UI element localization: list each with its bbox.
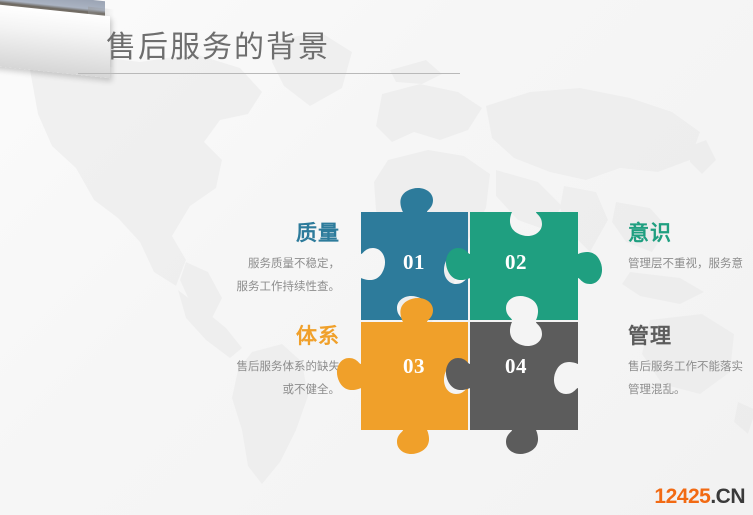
puzzle-number-03: 03 — [403, 354, 425, 379]
puzzle-number-04: 04 — [505, 354, 527, 379]
puzzle-number-01: 01 — [403, 250, 425, 275]
info-block-management: 管理 售后服务工作不能落实 管理混乱。 — [628, 325, 753, 400]
block-desc-quality-line1: 服务质量不稳定， — [120, 252, 340, 274]
watermark-number: 12425 — [654, 485, 710, 508]
block-desc-system-line1: 售后服务体系的缺失 — [120, 355, 340, 377]
info-block-system: 体系 售后服务体系的缺失 或不健全。 — [120, 325, 340, 400]
watermark-tld: .CN — [710, 485, 745, 508]
site-watermark: 12425.CN — [654, 485, 745, 509]
block-desc-management-line1: 售后服务工作不能落实 — [628, 355, 753, 377]
puzzle-svg — [333, 172, 603, 462]
puzzle-number-02: 02 — [505, 250, 527, 275]
block-heading-quality: 质量 — [120, 222, 340, 245]
puzzle-diagram: 01 02 03 04 — [333, 172, 603, 462]
info-block-quality: 质量 服务质量不稳定， 服务工作持续性查。 — [120, 222, 340, 297]
slide-canvas: 售后服务的背景 质量 服务质量不稳定， 服务工作持续性查。 体系 售后服务体系的… — [0, 0, 753, 515]
title-ribbon — [0, 4, 110, 79]
block-desc-quality-line2: 服务工作持续性查。 — [120, 275, 340, 297]
block-heading-awareness: 意识 — [628, 222, 753, 245]
title-divider — [78, 73, 460, 74]
block-heading-management: 管理 — [628, 325, 753, 348]
block-desc-system-line2: 或不健全。 — [120, 378, 340, 400]
page-title: 售后服务的背景 — [106, 22, 330, 66]
block-desc-management-line2: 管理混乱。 — [628, 378, 753, 400]
block-heading-system: 体系 — [120, 325, 340, 348]
block-desc-awareness-line1: 管理层不重视，服务意 — [628, 252, 753, 274]
info-block-awareness: 意识 管理层不重视，服务意 — [628, 222, 753, 275]
